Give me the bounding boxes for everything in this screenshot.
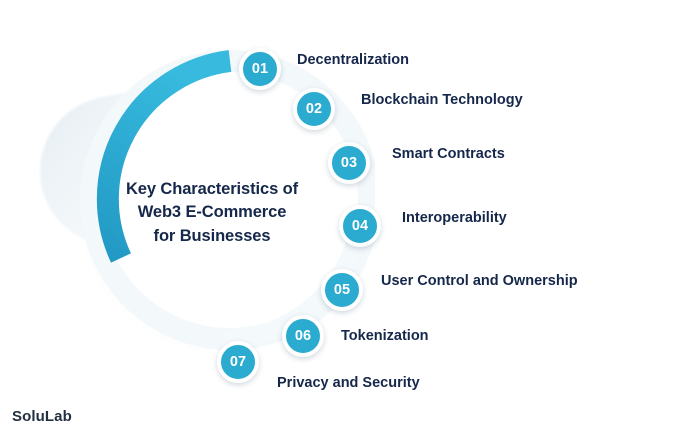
center-title-line-3: for Businesses <box>96 225 328 248</box>
step-label-04: Interoperability <box>402 211 507 226</box>
center-title: Key Characteristics of Web3 E-Commerce f… <box>96 178 328 248</box>
step-number-badge-02: 02 <box>293 88 335 130</box>
step-number-badge-06: 06 <box>282 315 324 357</box>
step-label-07: Privacy and Security <box>277 376 420 391</box>
step-label-05: User Control and Ownership <box>381 274 578 289</box>
brand-wordmark: SoluLab <box>12 408 72 425</box>
step-label-06: Tokenization <box>341 329 429 344</box>
center-title-line-2: Web3 E-Commerce <box>96 201 328 224</box>
step-label-03: Smart Contracts <box>392 147 505 162</box>
step-number-badge-07: 07 <box>217 341 259 383</box>
step-label-01: Decentralization <box>297 53 409 68</box>
infographic-canvas: Key Characteristics of Web3 E-Commerce f… <box>0 0 700 441</box>
step-label-02: Blockchain Technology <box>361 93 523 108</box>
center-title-line-1: Key Characteristics of <box>96 178 328 201</box>
step-number-badge-03: 03 <box>328 142 370 184</box>
step-number-badge-01: 01 <box>239 48 281 90</box>
step-number-badge-04: 04 <box>339 205 381 247</box>
step-number-badge-05: 05 <box>321 269 363 311</box>
